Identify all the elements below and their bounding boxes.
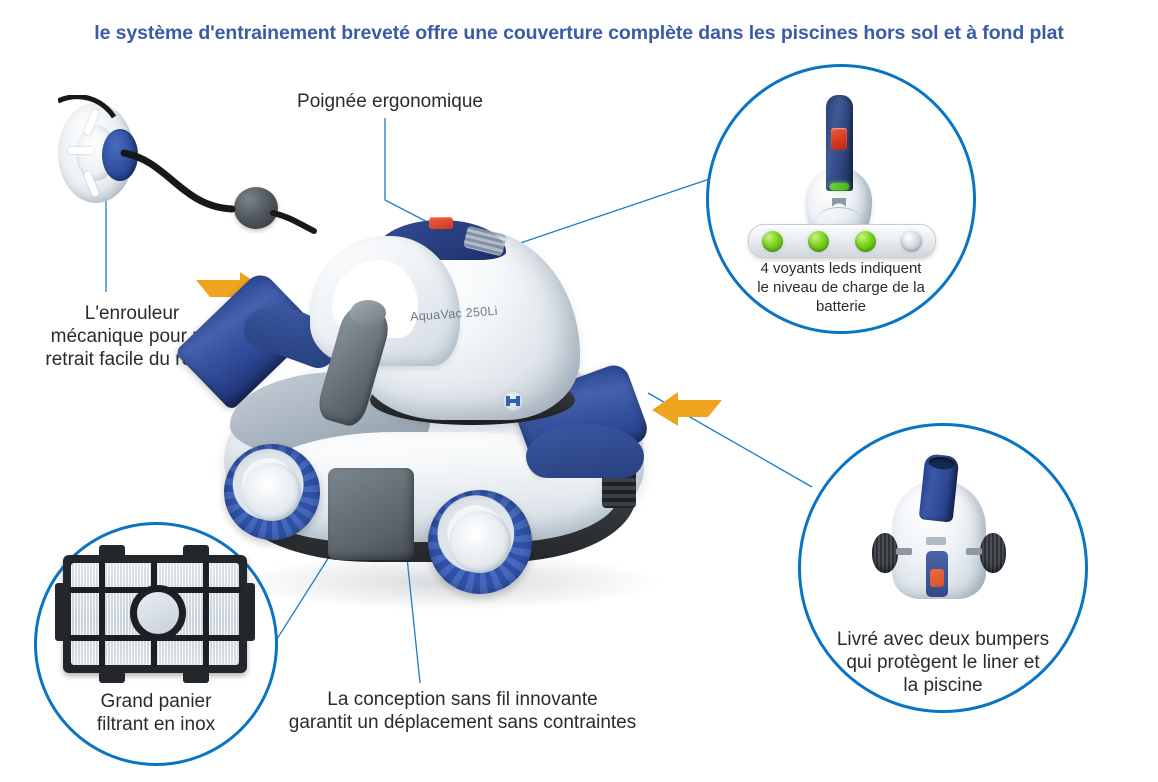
led-4-icon (901, 231, 922, 252)
front-jet-icon (919, 453, 960, 522)
led-2-icon (808, 231, 829, 252)
callout-voyants-leds: 4 voyants leds indiquent le niveau de ch… (726, 260, 956, 316)
callout-poignee-ergonomique: Poignée ergonomique (265, 90, 515, 113)
bumper-left-icon (872, 533, 898, 573)
wheel-left (224, 444, 320, 540)
page-title: le système d'entrainement breveté offre … (0, 22, 1158, 45)
charge-led-strip-icon (830, 183, 849, 190)
basket-tab-br (183, 669, 209, 683)
bumper-right-icon (980, 533, 1006, 573)
led-indicator-bar (748, 224, 936, 258)
led-3-icon (855, 231, 876, 252)
led-1-icon (762, 231, 783, 252)
dome-power-button (429, 217, 453, 229)
front-view-illustration (866, 455, 1012, 605)
basket-tab-bl (99, 669, 125, 683)
callout-panier-filtrant: Grand panier filtrant en inox (46, 690, 266, 736)
bumper-axle-right (966, 548, 982, 555)
robot-main-illustration: AquaVac 250Li (210, 200, 710, 650)
callout-bumpers: Livré avec deux bumpers qui protègent le… (793, 628, 1093, 698)
hayward-logo-icon (502, 390, 524, 412)
basket-tab-tl (99, 545, 125, 559)
front-crest-mark (926, 537, 946, 545)
front-hatch-icon (926, 551, 948, 597)
robot-arm-knob (350, 300, 386, 326)
basket-tab-l (55, 583, 69, 641)
basket-center-opening (130, 585, 186, 641)
robot-filter-cover (328, 468, 414, 560)
basket-tab-tr (183, 545, 209, 559)
wheel-right (428, 490, 532, 594)
infographic-canvas: le système d'entrainement breveté offre … (0, 0, 1158, 782)
power-button-icon (831, 128, 847, 150)
callout-sans-fil: La conception sans fil innovante garanti… (255, 688, 670, 734)
basket-rib-v1 (99, 561, 105, 667)
basket-rib-v3 (203, 561, 209, 667)
bumper-axle-left (896, 548, 912, 555)
